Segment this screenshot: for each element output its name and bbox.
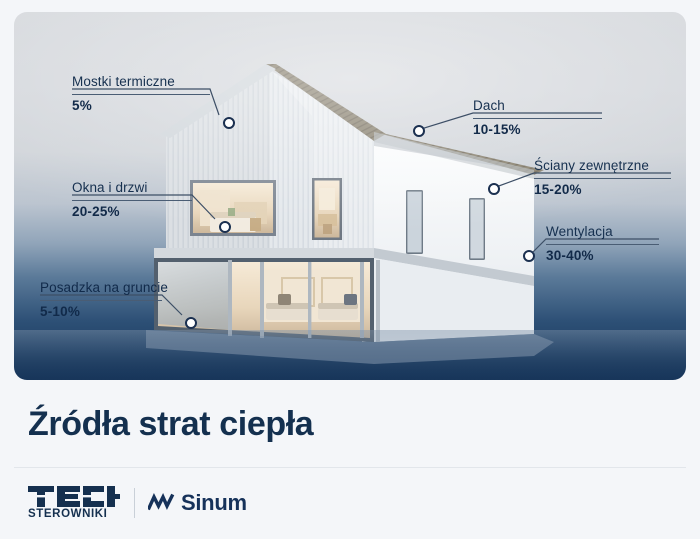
tech-wordmark-icon: [28, 486, 120, 507]
callout-value: 10-15%: [473, 122, 602, 138]
callout-label: Ściany zewnętrzne: [534, 158, 671, 174]
callout-dach: Dach 10-15%: [473, 98, 602, 137]
tech-subtitle: STEROWNIKI: [28, 508, 120, 520]
callout-rule: [534, 178, 671, 179]
callout-rule: [473, 118, 602, 119]
callout-rule: [72, 94, 210, 95]
callout-label: Okna i drzwi: [72, 180, 192, 196]
callout-okna-i-drzwi: Okna i drzwi 20-25%: [72, 180, 192, 219]
marker-okna-i-drzwi[interactable]: [219, 221, 231, 233]
sinum-wordmark: Sinum: [181, 490, 247, 516]
callout-label: Dach: [473, 98, 602, 114]
logo-separator: [134, 488, 135, 518]
callout-label: Wentylacja: [546, 224, 659, 240]
zigzag-wave-icon: [148, 493, 176, 513]
callout-value: 20-25%: [72, 204, 192, 220]
callout-posadzka-na-gruncie: Posadzka na gruncie 5-10%: [40, 280, 162, 319]
callout-value: 30-40%: [546, 248, 659, 264]
callout-rule: [40, 300, 162, 301]
page-title: Źródła strat ciepła: [28, 405, 313, 444]
callout-value: 15-20%: [534, 182, 671, 198]
marker-dach[interactable]: [413, 125, 425, 137]
marker-mostki-termiczne[interactable]: [223, 117, 235, 129]
illustration-panel: Mostki termiczne 5% Okna i drzwi 20-25% …: [14, 12, 686, 380]
infographic-page: Mostki termiczne 5% Okna i drzwi 20-25% …: [0, 0, 700, 539]
callout-sciany-zewnetrzne: Ściany zewnętrzne 15-20%: [534, 158, 671, 197]
callout-rule: [546, 244, 659, 245]
footer-logo-row: STEROWNIKI Sinum: [28, 481, 247, 525]
callout-value: 5%: [72, 98, 210, 114]
marker-sciany-zewnetrzne[interactable]: [488, 183, 500, 195]
callout-label: Posadzka na gruncie: [40, 280, 162, 296]
callout-wentylacja: Wentylacja 30-40%: [546, 224, 659, 263]
marker-posadzka-na-gruncie[interactable]: [185, 317, 197, 329]
sinum-logo[interactable]: Sinum: [148, 490, 247, 516]
callout-mostki-termiczne: Mostki termiczne 5%: [72, 74, 210, 113]
callout-label: Mostki termiczne: [72, 74, 210, 90]
marker-wentylacja[interactable]: [523, 250, 535, 262]
callout-rule: [72, 200, 192, 201]
footer-divider: [14, 467, 686, 468]
callout-value: 5-10%: [40, 304, 162, 320]
tech-sterowniki-logo[interactable]: STEROWNIKI: [28, 486, 120, 520]
